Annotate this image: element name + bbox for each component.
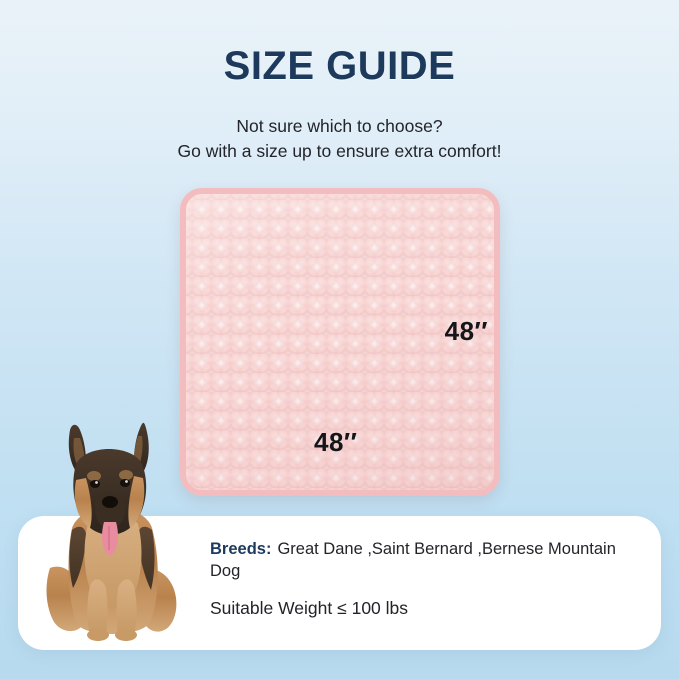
page-title: SIZE GUIDE [0,44,679,89]
dog-brow-left [87,471,101,481]
dimension-label-length: 48′′ [314,427,357,458]
subtitle-block: Not sure which to choose? Go with a size… [0,114,679,164]
dog-front-leg-left [87,579,107,634]
subtitle-line-2: Go with a size up to ensure extra comfor… [0,139,679,164]
dog-brow-right [119,470,133,480]
dog-eye-highlight-left [95,481,98,484]
breeds-label: Breeds: [210,540,271,558]
suitable-weight-text: Suitable Weight ≤ 100 lbs [210,598,640,619]
dog-eye-highlight-right [125,480,128,483]
dog-nose [102,496,118,508]
size-guide-infographic: SIZE GUIDE Not sure which to choose? Go … [0,0,679,679]
product-image-mat: 48′′ 48′′ [180,188,500,496]
subtitle-line-1: Not sure which to choose? [0,114,679,139]
info-panel-text: Breeds:Great Dane ,Saint Bernard ,Bernes… [210,538,640,619]
dog-paw-left [87,629,109,641]
breeds-row: Breeds:Great Dane ,Saint Bernard ,Bernes… [210,538,640,582]
dog-front-leg-right [117,579,137,634]
german-shepherd-illustration [42,418,184,642]
dog-photo [42,418,184,642]
dimension-label-width: 48′′ [445,316,488,347]
dog-eye-left [90,480,100,488]
dog-paw-right [115,629,137,641]
dog-eye-right [120,479,130,487]
